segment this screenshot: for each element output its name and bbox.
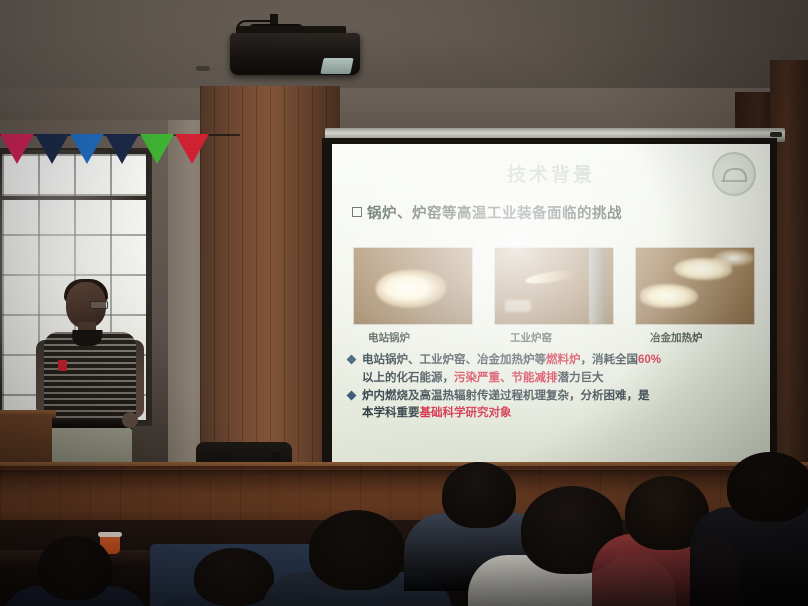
photo-caption-3: 冶金加热炉 [650, 330, 703, 345]
square-bullet-icon [352, 207, 362, 217]
slide-text-highlight: 基础科学研究对象 [420, 407, 512, 419]
slide-text: 电站锅炉、工业炉窑、冶金加热炉等 [362, 354, 546, 366]
emblem-base-shape [721, 180, 745, 182]
slide-bullet-line: 本学科重要基础科学研究对象 [348, 405, 760, 423]
slide-bullet-line: 以上的化石能源，污染严重、节能减排潜力巨大 [348, 370, 760, 388]
bunting-flag [70, 134, 104, 164]
diamond-bullet-icon [347, 355, 357, 365]
ceiling-wall [0, 0, 808, 96]
slide-photo-row [354, 248, 754, 324]
furnace-port-shape [505, 300, 531, 312]
audience-head [727, 452, 808, 522]
audience-shoulders [690, 507, 808, 606]
bunting-flag [0, 134, 34, 164]
bunting-flag [35, 134, 69, 164]
presenter-badge [58, 360, 67, 371]
photo-caption-1: 电站锅炉 [368, 330, 410, 345]
flame-shape [525, 268, 578, 286]
slide-bullet-line: 炉内燃烧及高温热辐射传递过程机理复杂，分析困难，是 [348, 388, 760, 406]
slide-text-highlight: 60% [638, 354, 661, 366]
furnace-wall-shape [589, 248, 605, 324]
slide-text: ，消耗全国 [581, 354, 639, 366]
slide-heading-text: 锅炉、炉窑等高温工业装备面临的挑战 [367, 206, 622, 222]
university-emblem-icon [712, 152, 756, 196]
flame-shape [640, 284, 698, 308]
slide-text: 潜力巨大 [558, 372, 604, 384]
screen-roller-end-cap [770, 132, 782, 137]
glasses-icon [90, 301, 108, 309]
slide-bullet-line: 电站锅炉、工业炉窑、冶金加热炉等燃料炉，消耗全国60% [348, 352, 760, 370]
slide-heading: 锅炉、炉窑等高温工业装备面临的挑战 [352, 202, 762, 223]
slide-caption-row: 电站锅炉 工业炉窑 冶金加热炉 [354, 330, 754, 346]
photo-industrial-kiln [495, 248, 613, 324]
slide-text-highlight: 污染严重、节能减排 [454, 372, 558, 384]
presenter-hand [122, 412, 138, 428]
slide-text: 以上的化石能源， [362, 372, 454, 384]
audience-member-1 [0, 536, 150, 606]
bunting-flag [175, 134, 209, 164]
slide-text: 本学科重要 [362, 407, 420, 419]
audience-head [38, 536, 112, 600]
audience-member-7 [690, 452, 808, 606]
bunting-flag [105, 134, 139, 164]
decorative-bunting [0, 132, 240, 176]
lecture-hall-photo: 技术背景 锅炉、炉窑等高温工业装备面临的挑战 电站锅炉 [0, 0, 808, 606]
ceiling-fixture [196, 66, 210, 71]
slide-bullet-list: 电站锅炉、工业炉窑、冶金加热炉等燃料炉，消耗全国60%以上的化石能源，污染严重、… [348, 352, 760, 423]
bunting-flag [140, 134, 174, 164]
projection-screen: 技术背景 锅炉、炉窑等高温工业装备面临的挑战 电站锅炉 [332, 144, 770, 464]
photo-metallurgical-furnace [636, 248, 754, 324]
slide-title: 技术背景 [332, 160, 770, 187]
diamond-bullet-icon [347, 390, 357, 400]
slide-text: 炉内燃烧及高温热辐射传递过程机理复杂，分析困难，是 [362, 390, 650, 402]
slide-text-highlight: 燃料炉 [546, 354, 581, 366]
photo-power-plant-boiler [354, 248, 472, 324]
flame-shape [674, 258, 732, 280]
photo-caption-2: 工业炉窑 [510, 330, 552, 345]
flame-shape [376, 270, 446, 308]
audience-head [309, 510, 405, 590]
presenter-collar [71, 330, 102, 346]
projector-lens [320, 58, 353, 74]
